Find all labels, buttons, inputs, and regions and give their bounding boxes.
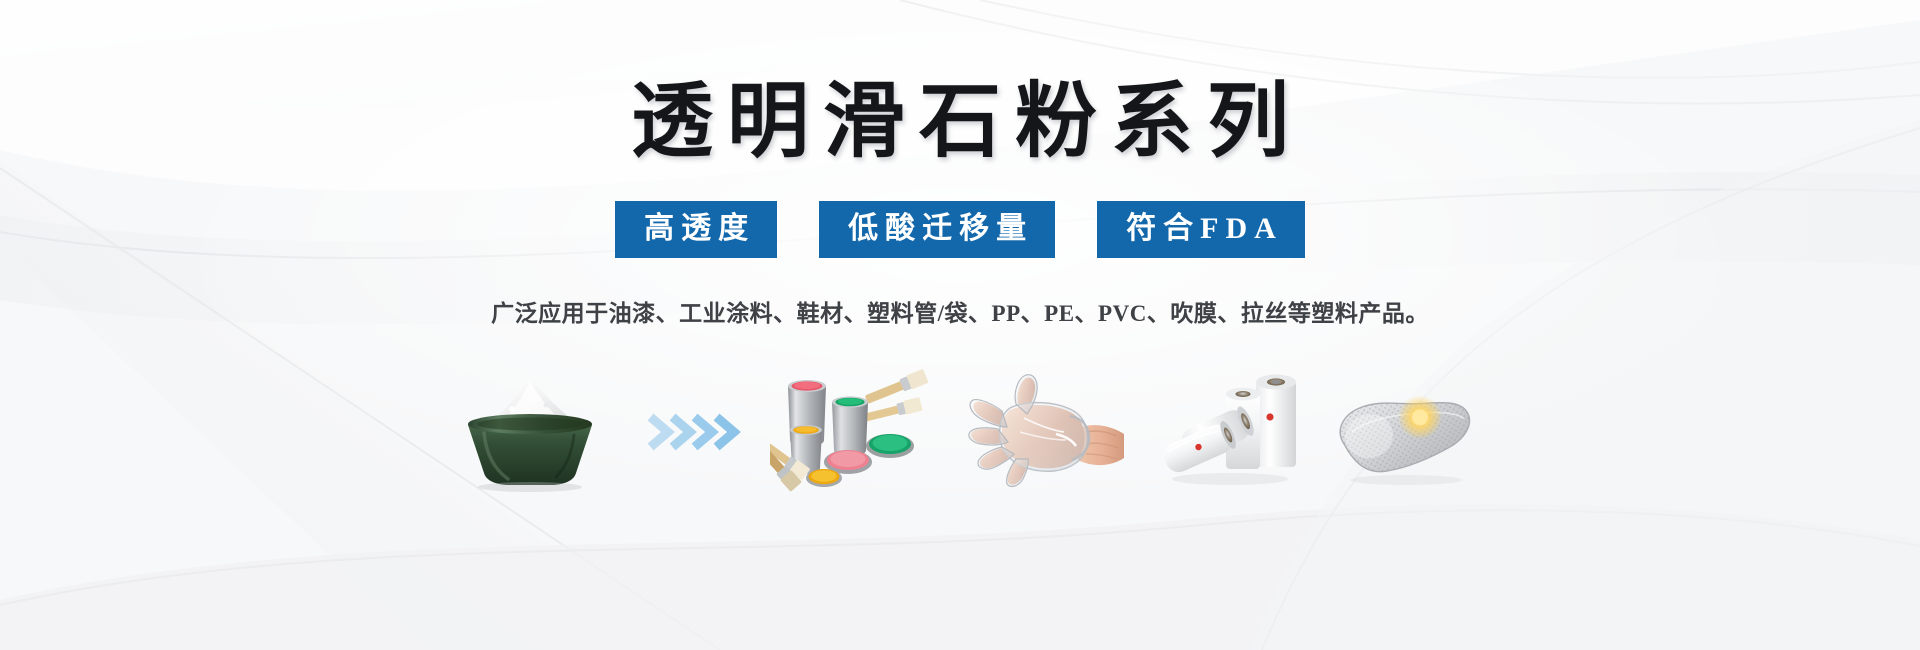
shoe-insole-image xyxy=(1328,376,1478,494)
page-title: 透明滑石粉系列 xyxy=(617,78,1303,167)
talc-powder-bowl-image xyxy=(442,369,622,494)
banner-content: 透明滑石粉系列 高透度 低酸迁移量 符合FDA 广泛应用于油漆、工业涂料、鞋材、… xyxy=(0,0,1920,650)
product-banner: 透明滑石粉系列 高透度 低酸迁移量 符合FDA 广泛应用于油漆、工业涂料、鞋材、… xyxy=(0,0,1920,650)
film-rolls-image xyxy=(1152,369,1302,494)
badge-low-acid-migration: 低酸迁移量 xyxy=(819,201,1055,259)
application-description: 广泛应用于油漆、工业涂料、鞋材、塑料管/袋、PP、PE、PVC、吹膜、拉丝等塑料… xyxy=(491,294,1429,328)
chevron-arrows-icon xyxy=(648,412,744,494)
feature-badge-row: 高透度 低酸迁移量 符合FDA xyxy=(615,201,1305,259)
paint-cans-image xyxy=(770,364,940,494)
badge-fda-compliant: 符合FDA xyxy=(1097,201,1305,259)
badge-high-transparency: 高透度 xyxy=(615,201,777,259)
plastic-glove-image xyxy=(966,374,1126,494)
product-image-strip xyxy=(442,354,1478,494)
